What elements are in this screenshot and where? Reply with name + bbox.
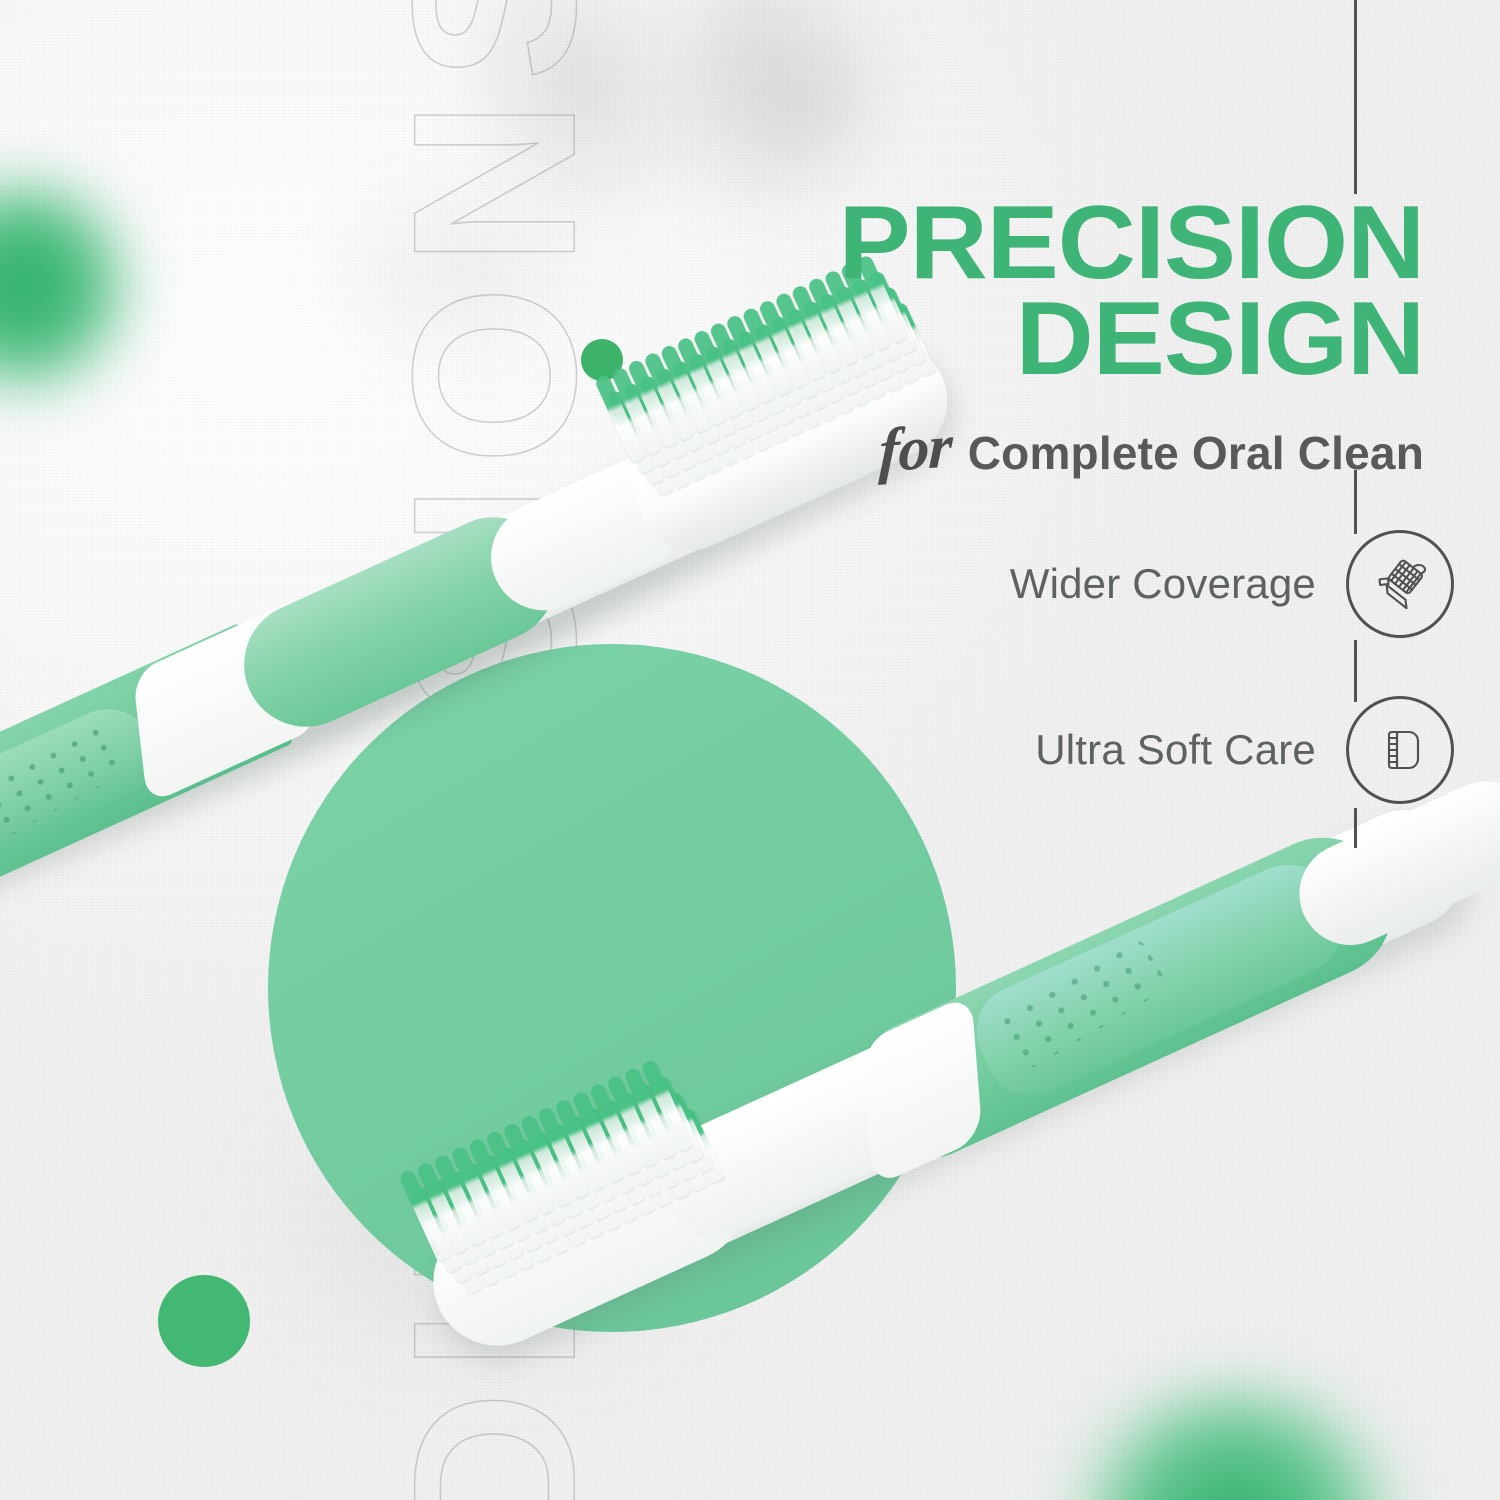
brush-head-bristles-icon xyxy=(1346,696,1454,804)
feature-label: Ultra Soft Care xyxy=(1035,726,1316,774)
headline-line-2: DESIGN xyxy=(838,292,1424,388)
connector-line-top xyxy=(1354,0,1357,194)
headline-line-1: PRECISION xyxy=(838,196,1424,292)
feature-label: Wider Coverage xyxy=(1010,560,1316,608)
product-marketing-image: DIMENSIONS xyxy=(0,0,1500,1500)
feature-item-wider-coverage[interactable]: Wider Coverage xyxy=(1010,530,1454,638)
connector-line-bottom xyxy=(1354,808,1357,848)
brush-grip-white-band xyxy=(862,993,983,1187)
headline-block: PRECISION DESIGN xyxy=(861,196,1424,387)
connector-line-between-features xyxy=(1354,640,1357,702)
connector-line-to-feature-1 xyxy=(1354,470,1357,534)
subheadline-script-word: for xyxy=(878,411,953,487)
feature-item-ultra-soft-care[interactable]: Ultra Soft Care xyxy=(1035,696,1454,804)
toothbrush-with-paste-icon xyxy=(1346,530,1454,638)
subheadline-block: for Complete Oral Clean xyxy=(879,414,1424,485)
